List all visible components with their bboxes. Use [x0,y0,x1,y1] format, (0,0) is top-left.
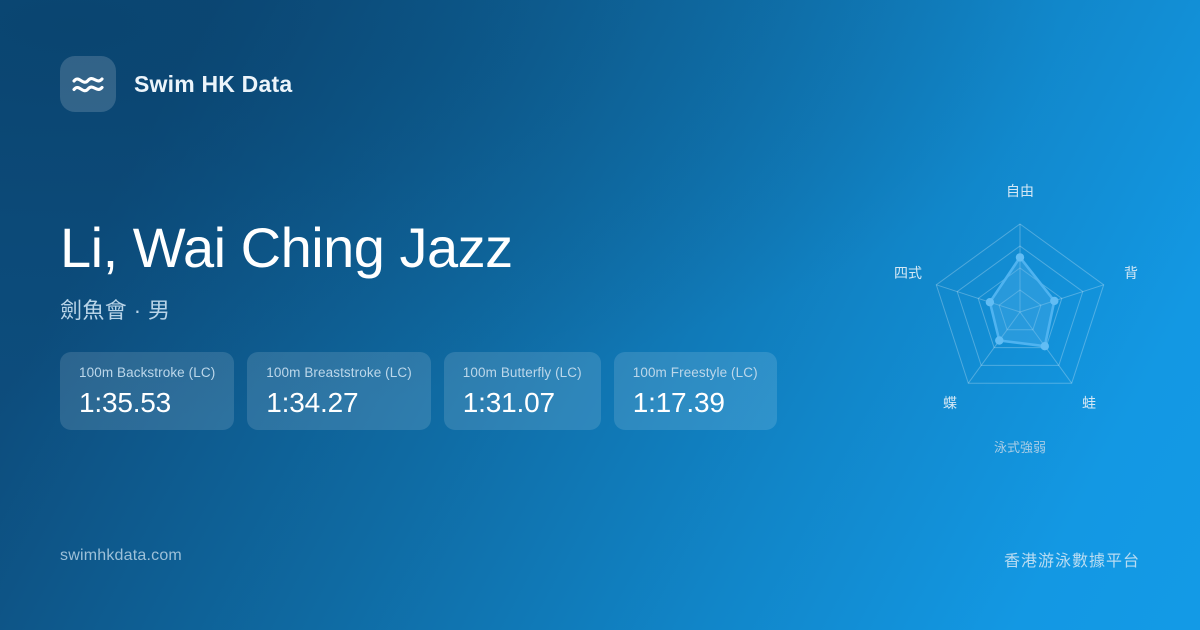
radar-axis-label: 四式 [894,265,922,281]
stat-label: 100m Butterfly (LC) [463,366,582,380]
page-title: Li, Wai Ching Jazz [60,218,513,277]
radar-data-point [1016,253,1024,261]
radar-caption: 泳式強弱 [994,440,1046,455]
wave-icon [60,56,116,112]
og-card: Swim HK Data Li, Wai Ching Jazz 劍魚會 · 男 … [0,0,1200,630]
radar-data-point [995,336,1003,344]
stat-card[interactable]: 100m Backstroke (LC) 1:35.53 [60,352,234,430]
footer-site[interactable]: swimhkdata.com [60,547,182,565]
brand-name: Swim HK Data [134,71,292,98]
stat-card[interactable]: 100m Butterfly (LC) 1:31.07 [444,352,601,430]
stat-value: 1:17.39 [633,389,758,417]
brand-header[interactable]: Swim HK Data [60,56,292,112]
stat-value: 1:31.07 [463,389,582,417]
stat-label: 100m Backstroke (LC) [79,366,215,380]
radar-axis-label: 蛙 [1082,395,1096,411]
radar-axis-label: 背 [1124,265,1138,281]
footer-tagline: 香港游泳數據平台 [1004,547,1140,571]
stat-label: 100m Breaststroke (LC) [266,366,412,380]
stat-label: 100m Freestyle (LC) [633,366,758,380]
athlete-meta: 劍魚會 · 男 [60,293,513,325]
stat-card-list: 100m Backstroke (LC) 1:35.53 100m Breast… [60,352,777,430]
radar-data-point [1050,297,1058,305]
stat-value: 1:35.53 [79,389,215,417]
hero-block: Li, Wai Ching Jazz 劍魚會 · 男 [60,218,513,325]
stat-value: 1:34.27 [266,389,412,417]
stat-card[interactable]: 100m Freestyle (LC) 1:17.39 [614,352,777,430]
stat-card[interactable]: 100m Breaststroke (LC) 1:34.27 [247,352,431,430]
radar-axis-label: 蝶 [943,395,957,411]
radar-data-point [1041,342,1049,350]
radar-chart: 自由背蛙蝶四式 泳式強弱 [870,170,1170,470]
radar-axis-label: 自由 [1006,183,1034,199]
radar-series-area [990,257,1054,346]
radar-data-point [986,298,994,306]
